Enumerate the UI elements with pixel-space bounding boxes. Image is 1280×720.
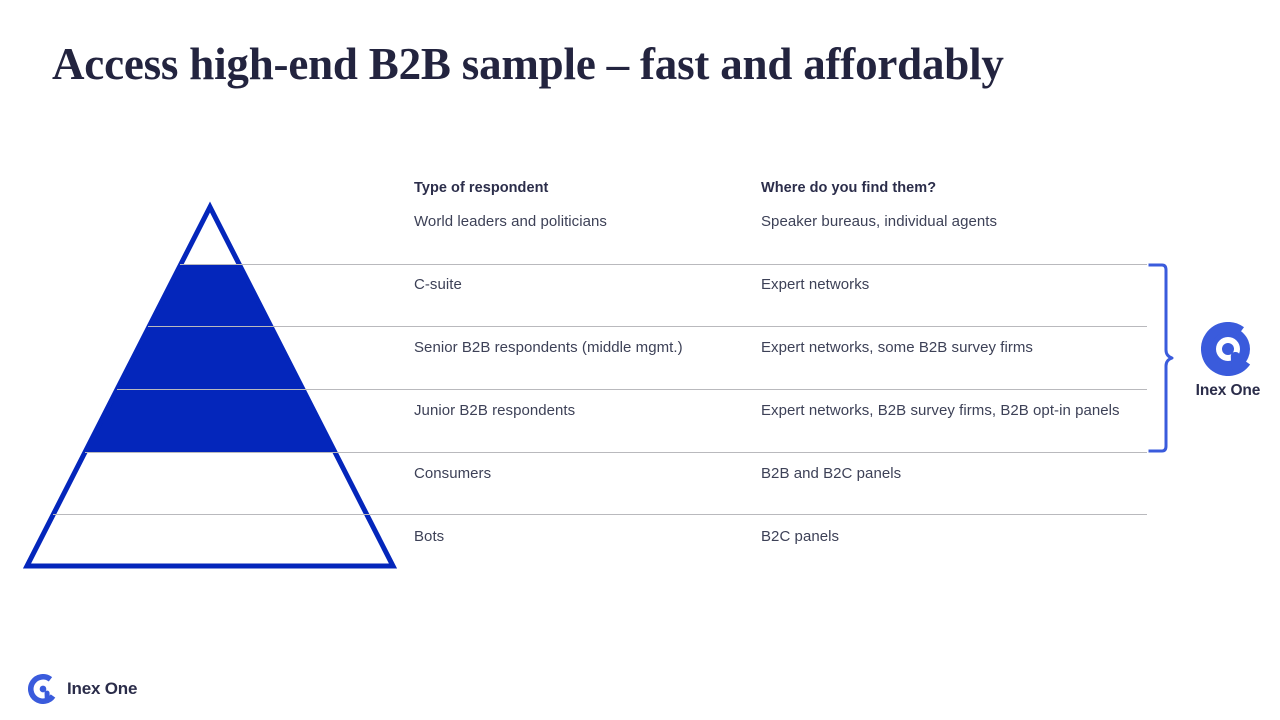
inex-one-logo-stacked: Inex One	[1182, 322, 1274, 400]
column-header-type: Type of respondent	[414, 180, 548, 196]
row-divider-3	[117, 389, 1147, 390]
cell-type: World leaders and politicians	[414, 213, 607, 230]
cell-type: C-suite	[414, 276, 462, 293]
table-row[interactable]: C-suite Expert networks	[414, 276, 1154, 298]
cell-where: B2C panels	[761, 528, 839, 545]
row-divider-2	[148, 326, 1147, 327]
row-divider-5	[53, 514, 1147, 515]
page-title: Access high-end B2B sample – fast and af…	[52, 36, 1172, 92]
cell-where: Expert networks, B2B survey firms, B2B o…	[761, 402, 1120, 419]
cell-where: Speaker bureaus, individual agents	[761, 213, 997, 230]
row-divider-1	[180, 264, 1147, 265]
cell-type: Senior B2B respondents (middle mgmt.)	[414, 339, 683, 356]
inex-one-wordmark: Inex One	[1182, 382, 1274, 400]
coverage-brace-icon	[1148, 262, 1174, 454]
pyramid-filled-bands	[20, 264, 400, 452]
cell-type: Bots	[414, 528, 444, 545]
table-row[interactable]: Junior B2B respondents Expert networks, …	[414, 402, 1154, 424]
cell-where: B2B and B2C panels	[761, 465, 901, 482]
table-row[interactable]: World leaders and politicians Speaker bu…	[414, 213, 1154, 235]
column-header-where: Where do you find them?	[761, 180, 936, 196]
row-divider-4	[85, 452, 1147, 453]
pyramid-outline	[27, 207, 393, 566]
inex-one-logo-footer: Inex One	[28, 674, 137, 704]
cell-type: Consumers	[414, 465, 491, 482]
cell-where: Expert networks, some B2B survey firms	[761, 339, 1033, 356]
inex-one-q-mark-icon	[1201, 322, 1255, 376]
inex-one-wordmark: Inex One	[67, 679, 137, 699]
table-row[interactable]: Senior B2B respondents (middle mgmt.) Ex…	[414, 339, 1154, 361]
table-row[interactable]: Bots B2C panels	[414, 528, 1154, 550]
table-header-row: Type of respondent Where do you find the…	[414, 180, 1154, 204]
table-row[interactable]: Consumers B2B and B2C panels	[414, 465, 1154, 487]
slide-canvas: Access high-end B2B sample – fast and af…	[0, 0, 1280, 720]
cell-where: Expert networks	[761, 276, 869, 293]
inex-one-q-mark-icon	[28, 674, 58, 704]
cell-type: Junior B2B respondents	[414, 402, 575, 419]
